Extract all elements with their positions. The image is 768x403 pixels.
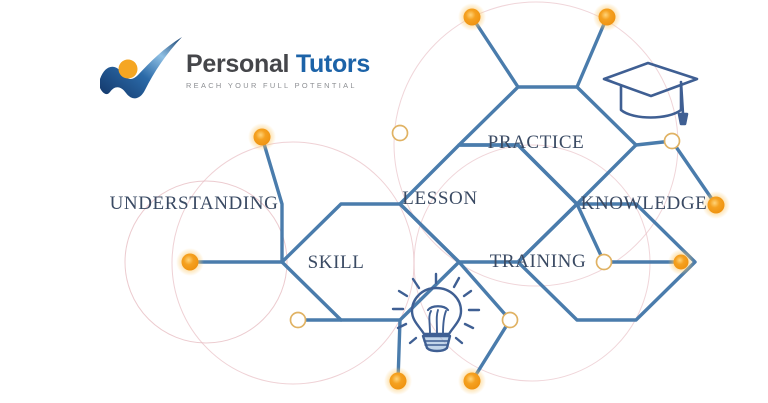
ray xyxy=(464,291,471,296)
personal-tutors-logo[interactable]: Personal Tutors REACH YOUR FULL POTENTIA… xyxy=(98,32,388,104)
hex-skill xyxy=(282,204,459,320)
dot-node xyxy=(458,367,486,395)
stem-training-right xyxy=(577,204,604,262)
logo-tagline: REACH YOUR FULL POTENTIAL xyxy=(186,81,370,90)
hex-lesson xyxy=(400,145,577,262)
ray xyxy=(454,278,459,287)
ray xyxy=(410,338,416,343)
logo-word-personal: Personal xyxy=(186,50,289,78)
ring-node xyxy=(503,313,518,328)
hex-practice xyxy=(459,87,636,204)
ray xyxy=(456,338,462,343)
dot-node xyxy=(593,3,621,31)
logo-text-block: Personal Tutors REACH YOUR FULL POTENTIA… xyxy=(186,29,370,107)
logo-word-tutors: Tutors xyxy=(289,50,370,78)
bulb-filament xyxy=(429,310,446,334)
logo-wordmark: Personal Tutors xyxy=(186,52,370,77)
ray xyxy=(399,291,407,296)
ring-node xyxy=(291,313,306,328)
dot-node xyxy=(668,249,694,275)
stem-training-down xyxy=(459,262,510,320)
cap-board xyxy=(604,63,697,96)
cap-tassel xyxy=(679,114,687,124)
graduation-cap-icon xyxy=(604,63,697,124)
logo-dot xyxy=(119,60,138,79)
ring-node xyxy=(393,126,408,141)
ray xyxy=(465,324,473,328)
infographic-canvas: Personal Tutors REACH YOUR FULL POTENTIA… xyxy=(0,0,768,403)
dot-node xyxy=(176,248,204,276)
swoosh-shape xyxy=(100,37,182,98)
ring-node xyxy=(597,255,612,270)
dot-node xyxy=(384,367,412,395)
dot-node xyxy=(458,3,486,31)
logo-swoosh-mark xyxy=(98,32,184,104)
hex-understanding-edge xyxy=(262,137,282,262)
ring-node xyxy=(665,134,680,149)
bulb-base xyxy=(423,336,450,351)
dot-node xyxy=(248,123,276,151)
cap-board-fold xyxy=(609,80,651,96)
dot-node xyxy=(702,191,730,219)
